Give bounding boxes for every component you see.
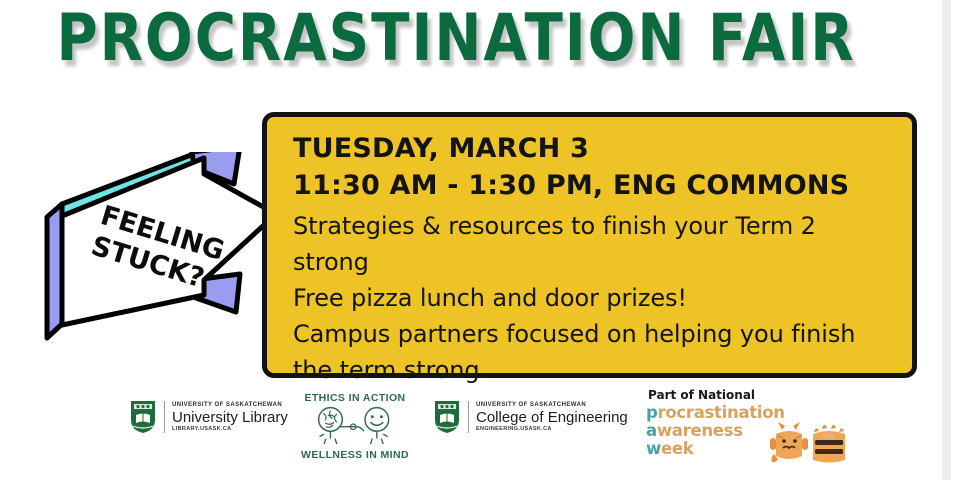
logo-college-of-engineering: UNIVERSITY OF SASKATCHEWAN College of En… bbox=[434, 400, 628, 434]
logo-ethics-top-text: ETHICS IN ACTION bbox=[295, 392, 415, 404]
event-detail-strategies: Strategies & resources to finish your Te… bbox=[293, 208, 890, 280]
scrollbar-edge bbox=[951, 0, 960, 480]
logo-divider bbox=[164, 401, 165, 433]
poster-canvas: PROCRASTINATION FAIR FEELING STUCK? TUES… bbox=[0, 0, 960, 480]
event-detail-partners: Campus partners focused on helping you f… bbox=[293, 316, 890, 388]
paw-accent-a: a bbox=[646, 421, 657, 440]
brain-and-smiley-handshake-icon bbox=[295, 404, 415, 444]
logo-divider bbox=[468, 401, 469, 433]
arrow-sign-graphic bbox=[44, 152, 284, 352]
logo-ethics-bottom-text: WELLNESS IN MIND bbox=[295, 449, 415, 461]
paw-accent-w: w bbox=[646, 439, 661, 458]
logo-library-name: University Library bbox=[172, 410, 288, 425]
logo-engineering-eyebrow: UNIVERSITY OF SASKATCHEWAN bbox=[476, 402, 628, 408]
logo-university-library: UNIVERSITY OF SASKATCHEWAN University Li… bbox=[130, 400, 288, 434]
page-title: PROCRASTINATION FAIR bbox=[14, 2, 899, 74]
logo-library-url: LIBRARY.USASK.CA bbox=[172, 427, 288, 433]
logo-procrastination-awareness-week: Part of National procrastination awarene… bbox=[646, 388, 785, 458]
paw-rest-procrastination: rocrastination bbox=[658, 403, 785, 422]
logo-engineering-url: ENGINEERING.USASK.CA bbox=[476, 427, 628, 433]
logo-strip: UNIVERSITY OF SASKATCHEWAN University Li… bbox=[0, 386, 912, 476]
logo-library-text: UNIVERSITY OF SASKATCHEWAN University Li… bbox=[172, 402, 288, 433]
event-info-box: TUESDAY, MARCH 3 11:30 AM - 1:30 PM, ENG… bbox=[262, 112, 917, 378]
paw-accent-p: p bbox=[646, 403, 658, 422]
event-time-location: 11:30 AM - 1:30 PM, ENG COMMONS bbox=[293, 168, 890, 204]
paw-kicker: Part of National bbox=[648, 388, 785, 402]
paw-rest-week: eek bbox=[661, 439, 693, 458]
logo-library-eyebrow: UNIVERSITY OF SASKATCHEWAN bbox=[172, 402, 288, 408]
usask-shield-icon bbox=[434, 400, 460, 434]
cat-paw-mascots-icon bbox=[768, 420, 846, 466]
paw-word-awareness: awareness bbox=[646, 422, 785, 440]
logo-engineering-text: UNIVERSITY OF SASKATCHEWAN College of En… bbox=[476, 402, 628, 433]
usask-shield-icon bbox=[130, 400, 156, 434]
logo-ethics-in-action: ETHICS IN ACTION WELLNESS IN MIND bbox=[295, 392, 415, 461]
paw-word-procrastination: procrastination bbox=[646, 404, 785, 422]
logo-engineering-name: College of Engineering bbox=[476, 410, 628, 425]
event-detail-pizza: Free pizza lunch and door prizes! bbox=[293, 280, 890, 316]
event-date: TUESDAY, MARCH 3 bbox=[293, 131, 890, 167]
paw-rest-awareness: wareness bbox=[657, 421, 743, 440]
paw-wordmark: procrastination awareness week bbox=[646, 404, 785, 458]
scrollbar-track[interactable] bbox=[942, 0, 951, 480]
feeling-stuck-arrow-sign: FEELING STUCK? bbox=[44, 152, 284, 352]
paw-word-week: week bbox=[646, 440, 785, 458]
